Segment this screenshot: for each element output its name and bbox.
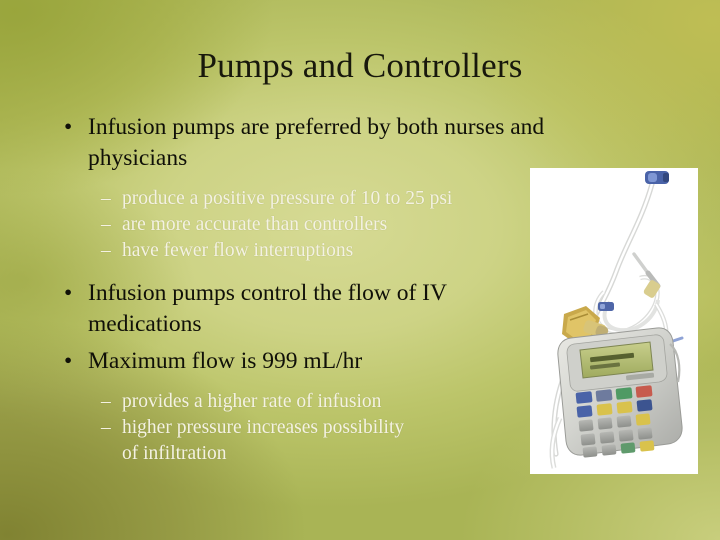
bullet-marker-dash: – (101, 212, 111, 238)
bullet-level1: • Maximum flow is 999 mL/hr (0, 346, 545, 377)
roller-clamp (598, 302, 614, 311)
bullet-marker-dash: – (101, 238, 111, 264)
bullet-text: Infusion pumps are preferred by both nur… (88, 114, 544, 171)
bullet-text: provides a higher rate of infusion (122, 391, 381, 412)
bullet-level2: – have fewer flow interruptions (0, 238, 540, 264)
infusion-pump-photo (530, 168, 698, 474)
slide-title: Pumps and Controllers (0, 46, 720, 86)
bullet-text: higher pressure increases possibility (122, 417, 404, 438)
infusion-pump-illustration (530, 168, 698, 474)
bullet-marker-dash: – (101, 389, 111, 415)
bullet-text: have fewer flow interruptions (122, 240, 353, 261)
bullet-text: Maximum flow is 999 mL/hr (88, 348, 362, 374)
bullet-level1: • Infusion pumps control the flow of IV … (0, 278, 545, 340)
bullet-level2: – higher pressure increases possibility (0, 415, 540, 441)
bullet-marker-dot: • (64, 278, 72, 309)
bullet-level2-continuation: of infiltration (0, 441, 540, 467)
presentation-slide: Pumps and Controllers • Infusion pumps a… (0, 0, 720, 540)
bullet-text: of infiltration (122, 443, 227, 464)
bullet-marker-dash: – (101, 186, 111, 212)
bullet-text: are more accurate than controllers (122, 214, 387, 235)
tubing-blue-connector-top (645, 171, 669, 184)
bullet-marker-dash: – (101, 415, 111, 441)
bullet-text: Infusion pumps control the flow of IV me… (88, 280, 447, 337)
bullet-level2: – provides a higher rate of infusion (0, 389, 540, 415)
bullet-level2: – produce a positive pressure of 10 to 2… (0, 186, 540, 212)
bullet-marker-dot: • (64, 112, 72, 143)
bullet-level1: • Infusion pumps are preferred by both n… (0, 112, 545, 174)
bullet-level2: – are more accurate than controllers (0, 212, 540, 238)
bullet-marker-dot: • (64, 346, 72, 377)
bullet-text: produce a positive pressure of 10 to 25 … (122, 188, 452, 209)
